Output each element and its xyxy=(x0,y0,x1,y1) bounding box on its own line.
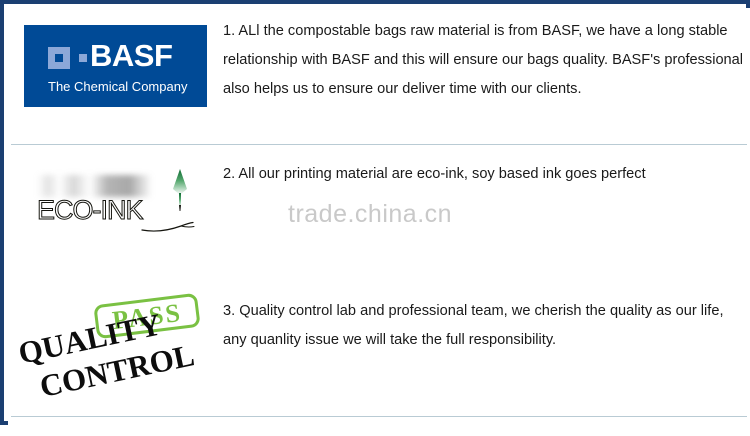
eco-ink-wordmark: ECO-INK xyxy=(37,195,143,225)
basf-dot-icon xyxy=(79,54,87,62)
document-body: BASF The Chemical Company 1. ALl the com… xyxy=(8,8,750,425)
eco-ink-blur-artifact xyxy=(37,175,177,197)
document-frame: BASF The Chemical Company 1. ALl the com… xyxy=(0,0,750,425)
basf-logo: BASF The Chemical Company xyxy=(24,25,207,107)
media-cell-ecoink: ECO-INK xyxy=(11,147,221,283)
feature-text-1: 1. ALl the compostable bags raw material… xyxy=(223,17,747,104)
eco-ink-leaf-icon xyxy=(171,169,189,211)
row-divider-1 xyxy=(11,144,747,145)
basf-square-inner-icon xyxy=(55,54,63,62)
quality-control-graphic: PASS QUALITY CONTROL xyxy=(17,291,217,422)
text-cell-quality-control: 3. Quality control lab and professional … xyxy=(223,283,747,436)
feature-row-ecoink: ECO-INK xyxy=(11,147,747,283)
basf-tagline: The Chemical Company xyxy=(48,79,187,95)
feature-text-3: 3. Quality control lab and professional … xyxy=(223,297,747,355)
media-cell-quality-control: PASS QUALITY CONTROL xyxy=(11,283,221,422)
feature-row-basf: BASF The Chemical Company 1. ALl the com… xyxy=(11,11,747,147)
media-cell-basf: BASF The Chemical Company xyxy=(11,11,221,147)
text-cell-basf: 1. ALl the compostable bags raw material… xyxy=(223,11,747,153)
eco-ink-swash-icon xyxy=(141,217,199,233)
feature-text-2: 2. All our printing material are eco-ink… xyxy=(223,160,747,189)
eco-ink-logo: ECO-INK xyxy=(29,173,209,249)
basf-wordmark: BASF xyxy=(90,39,172,73)
basf-square-outer-icon xyxy=(48,47,70,69)
text-cell-ecoink: 2. All our printing material are eco-ink… xyxy=(223,147,747,296)
feature-row-quality-control: PASS QUALITY CONTROL 3. Quality control … xyxy=(11,283,747,422)
